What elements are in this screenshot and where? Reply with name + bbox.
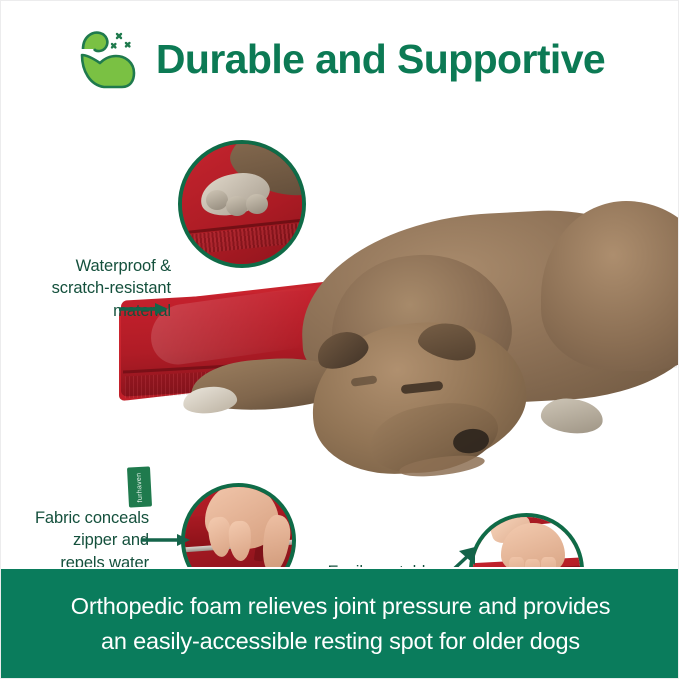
callout-line: Easily portable [319, 561, 443, 567]
finger [525, 559, 540, 567]
dog-toe [226, 196, 248, 216]
flexed-bicep-icon [76, 25, 142, 93]
brand-tag: furhaven [127, 466, 152, 507]
product-infographic: Durable and Supportive furhaven [0, 0, 679, 679]
callout-line: Waterproof & [19, 255, 171, 277]
finger [541, 557, 556, 567]
banner-line: an easily-accessible resting spot for ol… [101, 626, 580, 656]
callout-circle-waterproof [178, 140, 306, 268]
arrow-right-icon [119, 302, 169, 316]
arrow-up-right-icon [439, 545, 479, 567]
callout-line: zipper and [9, 529, 149, 551]
header: Durable and Supportive [1, 15, 679, 103]
callout-line: repels water [9, 552, 149, 567]
product-photo: furhaven [1, 105, 679, 567]
finger [509, 557, 524, 567]
brand-tag-label: furhaven [135, 472, 144, 502]
page-title: Durable and Supportive [156, 36, 605, 83]
callout-circle-zipper [181, 483, 296, 567]
callout-circle-handle [469, 513, 584, 567]
banner-line: Orthopedic foam relieves joint pressure … [71, 591, 611, 621]
dog-hind-paw [539, 396, 604, 436]
dog-toe [246, 194, 268, 214]
callout-text-handle: Easily portable with built-in handle [319, 561, 443, 567]
bottom-banner: Orthopedic foam relieves joint pressure … [1, 569, 679, 678]
callout-line: scratch-resistant [19, 277, 171, 299]
dog-toe [206, 190, 228, 210]
arrow-right-icon [141, 533, 191, 547]
callout-text-zipper: Fabric conceals zipper and repels water [9, 507, 149, 567]
callout-line: Fabric conceals [9, 507, 149, 529]
